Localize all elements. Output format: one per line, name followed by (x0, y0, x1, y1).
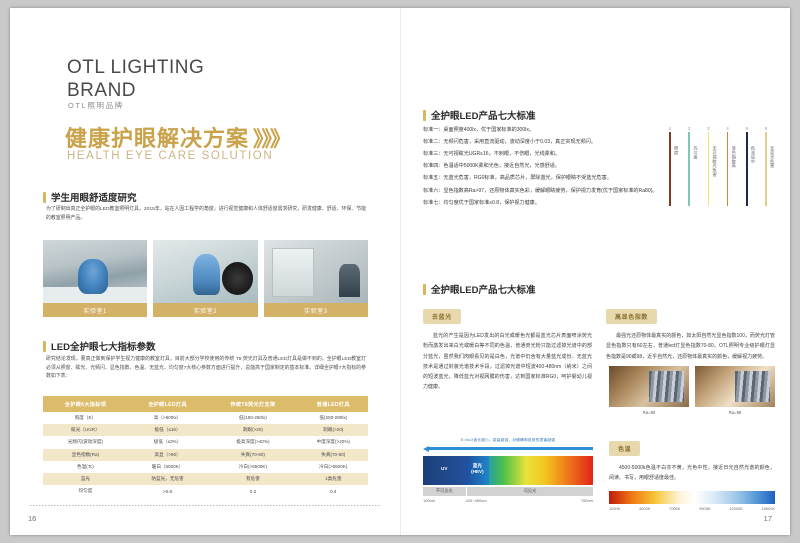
lab-photo-2-caption: 实验室2 (153, 303, 257, 317)
region-invisible: 不可见光 (423, 487, 466, 496)
legend-bar-3: 3 无可视眩光危害 (702, 126, 714, 206)
standard-item: 标准五： 无蓝光危害，RG0标准，高品质芯片，屏除蓝光，保护眼睛不受蓝光危害。 (423, 174, 663, 184)
legend-bar-label: 无蓝光危害 (769, 146, 775, 168)
table-header-cell: 全护眼LED灯具 (128, 396, 207, 412)
legend-bar-number: 2 (688, 126, 691, 131)
legend-bar-5: 5 色温适中 (741, 126, 753, 206)
legend-bar-label: 无可视眩光危害 (712, 146, 718, 177)
ct-tick: 12000K (729, 506, 742, 511)
standard-value: 桌面照度400lx，优于国家标准的300lx。 (443, 126, 663, 136)
standard-key: 标准四： (423, 162, 443, 172)
section-heading-seven-standards: 全护眼LED产品七大标准 (423, 108, 536, 122)
chevron-right-icon: 》》》 (253, 128, 289, 151)
standards-bar-legend: 1 照度 2 均匀度 3 无可视眩光危害 4 显色指数高 (664, 126, 772, 218)
section-heading-label: 全护眼LED产品七大标准 (431, 108, 536, 122)
legend-bar-2: 2 均匀度 (683, 126, 695, 206)
standards-list: 标准一： 桌面照度400lx，优于国家标准的300lx。 标准二： 无频闪危害，… (423, 126, 663, 211)
legend-bar-stick: 无蓝光危害 (765, 132, 767, 206)
standard-key: 标准七： (423, 199, 443, 209)
cri-sample-2: Ra=98 (695, 366, 775, 415)
page-number-left: 16 (28, 514, 36, 523)
table-cell: 防蓝光，无危害 (128, 473, 207, 485)
table-header-cell: 传统T8荧光灯支架 (207, 396, 298, 412)
table-cell: 色温(Tc) (43, 461, 128, 473)
table-cell: 失真(70-80) (299, 449, 368, 461)
lab-photo-3-image (264, 240, 368, 303)
spectrum-note: E=hc/λ波长越小，能量越强，对眼睛和皮肤的损害越强 (423, 438, 593, 443)
table-cell: 极高深度(>40%) (207, 436, 298, 448)
arrow-shaft (429, 447, 593, 450)
section-heading-seven-standards-2: 全护眼LED产品七大标准 (423, 282, 536, 296)
cri-sample-1: Ra=80 (609, 366, 689, 415)
page-number-right: 17 (764, 514, 772, 523)
standard-key: 标准一： (423, 126, 443, 136)
paragraph-color-temperature: 4500-5000k色温不白亦不黄，光色中性，接近日光自然光谱的颜色，阅读、书写… (609, 463, 775, 484)
table-cell: 中度深度(>20%) (299, 436, 368, 448)
legend-bar-label: 照度 (673, 146, 679, 155)
lab-photo-1-caption: 实验室1 (43, 303, 147, 317)
spectrum-diagram: E=hc/λ波长越小，能量越强，对眼睛和皮肤的损害越强 UV 蓝光 (HEV) … (423, 438, 593, 505)
paragraph-student-study: 为了研制出真正全护眼的LED教室照明灯具，2015年，站在人因工程学的角度，进行… (46, 206, 366, 223)
legend-bar-number: 1 (669, 126, 672, 131)
color-temperature-block: 色温 4500-5000k色温不白亦不黄，光色中性，接近日光自然光谱的颜色，阅读… (609, 438, 775, 511)
standard-key: 标准二： (423, 138, 443, 148)
legend-bar-number: 4 (726, 126, 729, 131)
table-cell: 刺眼(>20) (299, 424, 368, 436)
lab-photo-2: 实验室2 (153, 240, 257, 317)
section-heading-label: 学生用眼舒适度研究 (51, 190, 137, 204)
table-cell: 眩光（UGR） (43, 424, 128, 436)
legend-bar-label: 均匀度 (692, 146, 698, 159)
table-cell: 冷白(>6500K) (299, 461, 368, 473)
legend-bar-stick: 无可视眩光危害 (708, 132, 710, 206)
brand-line-2: BRAND (67, 79, 204, 102)
color-temperature-ticks: 1000K 4000K 7000K 9000K 12000K 16000K (609, 506, 775, 511)
spectrum-tick-left: 100nm (423, 498, 466, 505)
lab-photo-3-caption: 实验室3 (264, 303, 368, 317)
standard-item: 标准一： 桌面照度400lx，优于国家标准的300lx。 (423, 126, 663, 136)
table-cell: 低(200-280lx) (299, 412, 368, 424)
standard-item: 标准七： 均匀度优于国家标准≥0.8，保护视力健康。 (423, 199, 663, 209)
color-temperature-gradient (609, 491, 775, 504)
standard-item: 标准二： 无频闪危害，采用直流驱动，波动深度小于0.03，真正实现无频闪。 (423, 138, 663, 148)
standard-key: 标准六： (423, 187, 443, 197)
legend-bar-stick: 照度 (669, 132, 671, 206)
legend-bar-label: 显色指数高 (731, 146, 737, 168)
table-row: 眩光（UGR） 极低（≤16） 刺眼(>20) 刺眼(>20) (43, 424, 368, 436)
ct-tick: 16000K (762, 506, 775, 511)
cri-sample-2-caption: Ra=98 (695, 410, 775, 415)
paragraph-cri: 最强光还原物体最真实的颜色，如太阳自然光显色指数100，而荧光灯管显色指数只有6… (606, 331, 775, 362)
table-cell: 光频闪(波动深度) (43, 436, 128, 448)
table-cell: 照度（E） (43, 412, 128, 424)
cri-sample-1-caption: Ra=80 (609, 410, 689, 415)
table-header-cell: 普通LED灯具 (299, 396, 368, 412)
legend-bar-1: 1 照度 (664, 126, 676, 206)
ct-tick: 9000K (699, 506, 710, 511)
table-cell: 蓝光 (43, 473, 128, 485)
spectrum-segment-visible (489, 456, 593, 485)
legend-bar-stick: 显色指数高 (727, 132, 729, 206)
parameters-table: 全护眼6大指标项 全护眼LED灯具 传统T8荧光灯支架 普通LED灯具 照度（E… (43, 396, 368, 497)
paragraph-led-params: 研究结论发现，要真正做到保护学生视力健康的教室灯具，目前大部分学校使用的传统 T… (46, 356, 366, 382)
standard-item: 标准四： 色温适中5000K柔和光色，接近自然光，光感舒适。 (423, 162, 663, 172)
spectrum-ticks: 100nm 400~480nm 780nm (423, 498, 593, 505)
legend-bar-4: 4 显色指数高 (722, 126, 734, 206)
table-cell: 有危害 (207, 473, 298, 485)
table-cell: 低(150-250lx) (207, 412, 298, 424)
section-heading-label: LED全护眼七大指标参数 (51, 339, 156, 353)
legend-bar-number: 6 (765, 126, 768, 131)
right-page: 全护眼LED产品七大标准 标准一： 桌面照度400lx，优于国家标准的300lx… (400, 8, 790, 535)
cri-sample-1-image (609, 366, 689, 407)
legend-bar-6: 6 无蓝光危害 (760, 126, 772, 206)
left-page: OTL LIGHTING BRAND OTL照明品牌 健康护眼解决方案》》》 H… (10, 8, 400, 535)
table-row: 显色指数(Ra) 高显（>90） 失真(70-80) 失真(70-80) (43, 449, 368, 461)
brochure-spread: OTL LIGHTING BRAND OTL照明品牌 健康护眼解决方案》》》 H… (10, 8, 790, 535)
legend-bar-label: 色温适中 (750, 146, 756, 164)
spectrum-blue-label-en: (HEV) (471, 469, 484, 474)
table-cell: 高（>500lx） (128, 412, 207, 424)
brand-title: OTL LIGHTING BRAND (67, 56, 204, 102)
lab-photo-1: 实验室1 (43, 240, 147, 317)
standard-key: 标准五： (423, 174, 443, 184)
table-cell: >0.8 (128, 485, 207, 497)
accent-bar (423, 110, 426, 121)
table-cell: 显色指数(Ra) (43, 449, 128, 461)
table-cell: 极低（≤16） (128, 424, 207, 436)
region-visible: 可见光 (467, 487, 593, 496)
spectrum-blue-label-cn: 蓝光 (473, 463, 482, 468)
standard-value: 显色指数高Ra>97，还原物体真实色彩，缓解眼睛疲劳，保护视力发育(优于国家标准… (443, 187, 663, 197)
paragraph-blue-light: 蓝光的产生是因为LED发出的白光或暖色光都是蓝光芯片表面喷涂荧光粉而激发出来白光… (423, 331, 592, 393)
legend-bar-number: 3 (707, 126, 710, 131)
standard-value: 无蓝光危害，RG0标准，高品质芯片，屏除蓝光，保护眼睛不受蓝光危害。 (443, 174, 663, 184)
table-cell: 0.4 (299, 485, 368, 497)
table-row: 色温(Tc) 暖白（5000K） 冷白(>6500K) 冷白(>6500K) (43, 461, 368, 473)
legend-bar-number: 5 (745, 126, 748, 131)
table-cell: 失真(70-80) (207, 449, 298, 461)
lab-photo-3: 实验室3 (264, 240, 368, 317)
table-cell: 0.3 (207, 485, 298, 497)
brand-subtitle: OTL照明品牌 (68, 100, 124, 111)
table-cell: 暖白（5000K） (128, 461, 207, 473)
standard-value: 无频闪危害，采用直流驱动，波动深度小于0.03，真正实现无频闪。 (443, 138, 663, 148)
accent-bar (43, 341, 46, 352)
table-cell: 冷白(>6500K) (207, 461, 298, 473)
section-heading-student-study: 学生用眼舒适度研究 (43, 190, 137, 204)
headline-chinese: 健康护眼解决方案》》》 (65, 121, 289, 153)
spectrum-uv-label: UV (423, 466, 466, 472)
section-heading-led-params: LED全护眼七大指标参数 (43, 339, 156, 353)
legend-bar-stick: 色温适中 (746, 132, 748, 206)
table-cell: 均匀度 (43, 485, 128, 497)
ct-tick: 4000K (639, 506, 650, 511)
ct-tick: 7000K (669, 506, 680, 511)
headline-english: HEALTH EYE CARE SOLUTION (67, 150, 273, 162)
pill-cri: 高显色指数 (606, 309, 657, 324)
spectrum-bar: UV 蓝光 (HEV) (423, 456, 593, 485)
table-row: 光频闪(波动深度) 极低（≤3%） 极高深度(>40%) 中度深度(>20%) (43, 436, 368, 448)
cri-comparison-row: Ra=80 Ra=98 (609, 366, 775, 415)
standard-item: 标准六： 显色指数高Ra>97，还原物体真实色彩，缓解眼睛疲劳，保护视力发育(优… (423, 187, 663, 197)
lab-photo-2-image (153, 240, 257, 303)
table-header-cell: 全护眼6大指标项 (43, 396, 128, 412)
spectrum-region-row: 不可见光 可见光 (423, 487, 593, 496)
brand-line-1: OTL LIGHTING (67, 56, 204, 79)
spectrum-arrow (423, 445, 593, 452)
spectrum-blue-label: 蓝光 (HEV) (466, 463, 490, 474)
table-row: 均匀度 >0.8 0.3 0.4 (43, 485, 368, 497)
pill-blue-light: 去蓝光 (423, 309, 461, 324)
standard-value: 色温适中5000K柔和光色，接近自然光，光感舒适。 (443, 162, 663, 172)
column-blue-light: 去蓝光 蓝光的产生是因为LED发出的白光或暖色光都是蓝光芯片表面喷涂荧光粉而激发… (423, 306, 592, 393)
accent-bar (423, 284, 426, 295)
footer-divider (30, 505, 380, 506)
spectrum-tick-right: 780nm (510, 498, 593, 505)
accent-bar (43, 192, 46, 203)
legend-bar-stick: 均匀度 (688, 132, 690, 206)
pill-color-temperature: 色温 (609, 441, 640, 456)
table-cell: 刺眼(>20) (207, 424, 298, 436)
headline-chinese-text: 健康护眼解决方案 (65, 126, 249, 151)
table-header-row: 全护眼6大指标项 全护眼LED灯具 传统T8荧光灯支架 普通LED灯具 (43, 396, 368, 412)
lab-photo-1-image (43, 240, 147, 303)
standard-value: 无可视眩光UGR≤16，不刺眼，不伤眼，光线柔和。 (443, 150, 663, 160)
spectrum-tick-mid: 400~480nm (466, 498, 510, 505)
table-cell: 极低（≤3%） (128, 436, 207, 448)
cri-sample-2-image (695, 366, 775, 407)
table-row: 蓝光 防蓝光，无危害 有危害 1类危害 (43, 473, 368, 485)
standard-item: 标准三： 无可视眩光UGR≤16，不刺眼，不伤眼，光线柔和。 (423, 150, 663, 160)
section-heading-label: 全护眼LED产品七大标准 (431, 282, 536, 296)
ct-tick: 1000K (609, 506, 620, 511)
standard-key: 标准三： (423, 150, 443, 160)
table-cell: 1类危害 (299, 473, 368, 485)
lab-photo-row: 实验室1 实验室2 实验室3 (43, 240, 368, 317)
table-cell: 高显（>90） (128, 449, 207, 461)
table-row: 照度（E） 高（>500lx） 低(150-250lx) 低(200-280lx… (43, 412, 368, 424)
standard-value: 均匀度优于国家标准≥0.8，保护视力健康。 (443, 199, 663, 209)
